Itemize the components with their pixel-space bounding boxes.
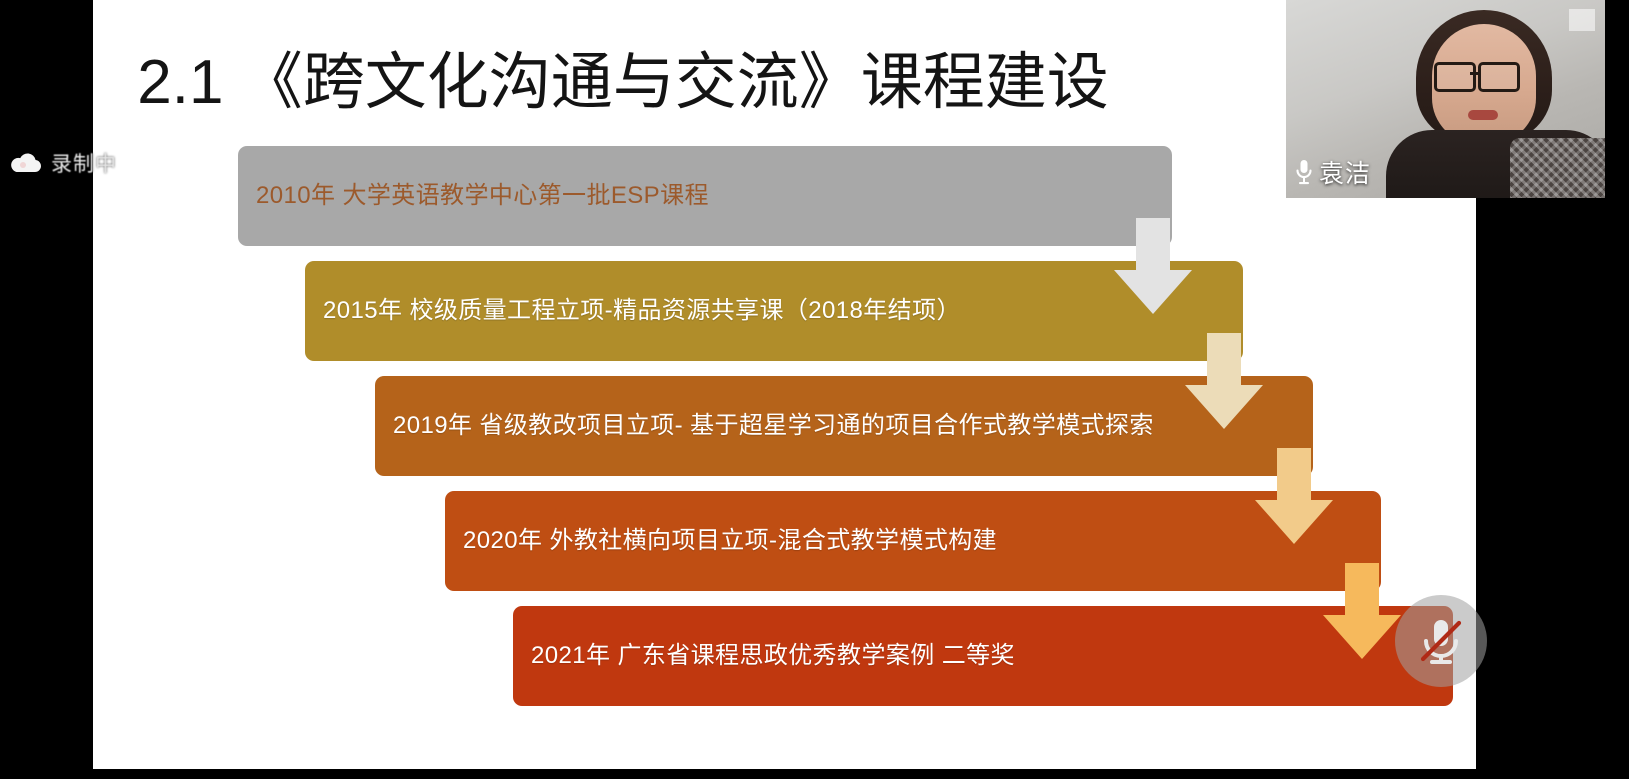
mute-toggle-button[interactable] — [1395, 595, 1487, 687]
timeline-item-label: 2015年 校级质量工程立项-精品资源共享课（2018年结项） — [305, 297, 961, 326]
window-reflection — [1569, 9, 1595, 31]
microphone-muted-icon — [1415, 613, 1467, 669]
meeting-screen-share-view: 2.1 《跨文化沟通与交流》课程建设 — [0, 0, 1629, 779]
timeline-item-label: 2019年 省级教改项目立项- 基于超星学习通的项目合作式教学模式探索 — [375, 412, 1154, 441]
recording-indicator: 录制中 — [8, 148, 117, 178]
shared-slide: 2.1 《跨文化沟通与交流》课程建设 — [93, 0, 1476, 779]
timeline-item-2010[interactable]: 2010年 大学英语教学中心第一批ESP课程 — [238, 146, 1172, 246]
connector-arrow-1 — [1114, 218, 1192, 314]
participant-name-badge: 袁洁 — [1294, 154, 1371, 190]
timeline-chevron-group: 2010年 大学英语教学中心第一批ESP课程 2015年 校级质量工程立项-精品… — [93, 0, 1476, 779]
slide-bottom-edge — [93, 769, 1476, 779]
cloud-icon — [8, 153, 42, 173]
timeline-item-2020[interactable]: 2020年 外教社横向项目立项-混合式教学模式构建 — [445, 491, 1381, 591]
recording-label: 录制中 — [51, 148, 117, 178]
connector-arrow-2 — [1185, 333, 1263, 429]
timeline-item-label: 2010年 大学英语教学中心第一批ESP课程 — [238, 182, 709, 211]
participant-name: 袁洁 — [1319, 154, 1371, 190]
self-view-video-tile[interactable]: 袁洁 — [1286, 0, 1605, 198]
timeline-item-2021[interactable]: 2021年 广东省课程思政优秀教学案例 二等奖 — [513, 606, 1453, 706]
timeline-item-2015[interactable]: 2015年 校级质量工程立项-精品资源共享课（2018年结项） — [305, 261, 1243, 361]
connector-arrow-4 — [1323, 563, 1401, 659]
timeline-item-label: 2020年 外教社横向项目立项-混合式教学模式构建 — [445, 527, 997, 556]
letterbox-left — [0, 0, 93, 779]
timeline-item-2019[interactable]: 2019年 省级教改项目立项- 基于超星学习通的项目合作式教学模式探索 — [375, 376, 1313, 476]
timeline-item-label: 2021年 广东省课程思政优秀教学案例 二等奖 — [513, 642, 1015, 671]
microphone-icon — [1294, 158, 1314, 186]
participant-image — [1382, 10, 1605, 198]
connector-arrow-3 — [1255, 448, 1333, 544]
